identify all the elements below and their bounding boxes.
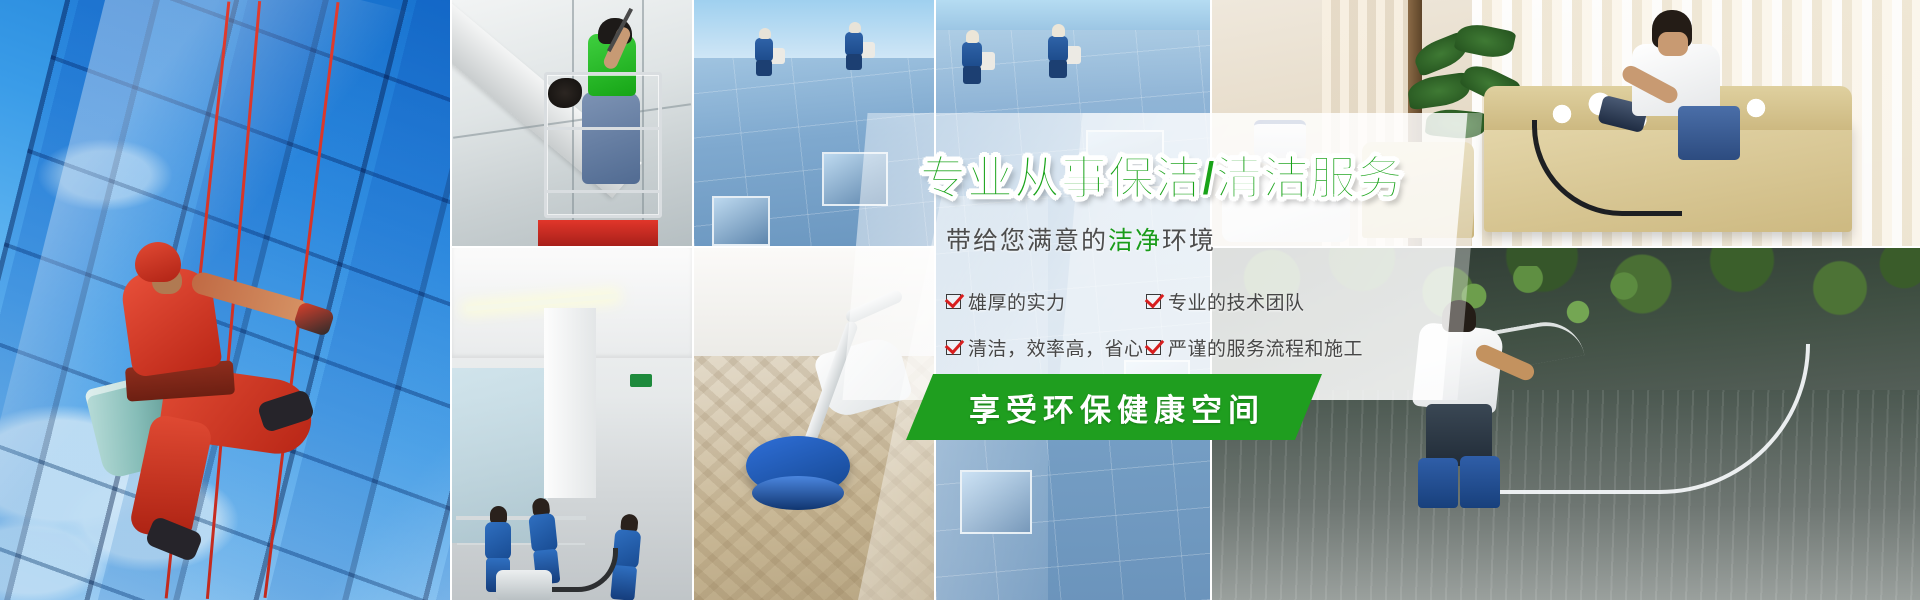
- subheadline-suffix: 环境: [1162, 227, 1216, 255]
- checkbox-checked-icon: [1146, 294, 1161, 309]
- subheadline-highlight: 洁净: [1108, 227, 1162, 255]
- feature-row: 雄厚的实力 专业的技术团队: [946, 278, 1386, 324]
- feature-row: 清洁，效率高，省心 严谨的服务流程和施工: [946, 324, 1386, 370]
- checkbox-checked-icon: [946, 294, 961, 309]
- banner-content: 专业从事保洁/清洁服务 带给您满意的洁净环境 雄厚的实力 专业的技术团队 清洁，…: [0, 0, 1920, 600]
- subheadline-prefix: 带给您满意的: [946, 227, 1108, 255]
- feature-item-process: 严谨的服务流程和施工: [1146, 324, 1386, 370]
- cta-button[interactable]: 享受环保健康空间: [906, 374, 1322, 440]
- cleaning-service-banner: 专业从事保洁/清洁服务 带给您满意的洁净环境 雄厚的实力 专业的技术团队 清洁，…: [0, 0, 1920, 600]
- feature-item-strength: 雄厚的实力: [946, 278, 1146, 324]
- feature-item-efficiency: 清洁，效率高，省心: [946, 324, 1146, 370]
- banner-headline: 专业从事保洁/清洁服务: [920, 152, 1404, 204]
- checkbox-checked-icon: [946, 340, 961, 355]
- feature-label: 严谨的服务流程和施工: [1168, 334, 1363, 361]
- banner-subheadline: 带给您满意的洁净环境: [946, 224, 1216, 258]
- feature-item-team: 专业的技术团队: [1146, 278, 1386, 324]
- feature-label: 清洁，效率高，省心: [968, 334, 1144, 361]
- checkbox-checked-icon: [1146, 340, 1161, 355]
- feature-label: 专业的技术团队: [1168, 288, 1305, 315]
- feature-label: 雄厚的实力: [968, 288, 1066, 315]
- cta-button-label: 享受环保健康空间: [906, 374, 1322, 440]
- feature-list: 雄厚的实力 专业的技术团队 清洁，效率高，省心 严谨的服务流程和施工: [946, 278, 1386, 370]
